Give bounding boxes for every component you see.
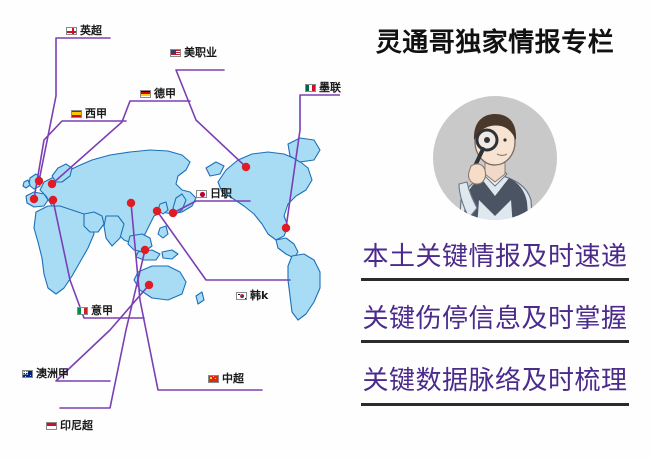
tagline-rule-3 xyxy=(361,403,629,406)
flag-indonesia-icon xyxy=(46,422,57,430)
land-india xyxy=(104,216,124,246)
flag-germany-icon xyxy=(140,90,151,98)
land-philippines xyxy=(158,226,168,238)
tagline-3: 关键数据脉络及时梳理 xyxy=(340,360,650,397)
map-label-laliga[interactable]: 西甲 xyxy=(71,108,107,119)
land-ireland xyxy=(23,180,30,188)
map-label-bundesliga-text: 德甲 xyxy=(154,88,176,99)
flag-japan-icon xyxy=(196,190,207,198)
marker-italy xyxy=(49,196,57,204)
tagline-block-3: 关键数据脉络及时梳理 xyxy=(340,360,650,406)
poster-root: 英超 美职业 德甲 墨联 西甲 日职 韩k 意甲 xyxy=(0,0,650,459)
map-label-liga1[interactable]: 印尼超 xyxy=(46,420,93,431)
land-nz xyxy=(196,292,204,304)
marker-australia xyxy=(145,281,153,289)
map-label-mls[interactable]: 美职业 xyxy=(170,47,217,58)
content-column: 灵通哥独家情报专栏 xyxy=(340,0,650,459)
world-map-svg xyxy=(0,0,340,459)
flag-australia-icon xyxy=(22,370,33,378)
map-label-bundesliga[interactable]: 德甲 xyxy=(140,88,176,99)
map-label-seriea[interactable]: 意甲 xyxy=(77,305,113,316)
map-landmasses xyxy=(23,138,320,320)
map-label-jleague[interactable]: 日职 xyxy=(196,188,232,199)
map-label-liga1-text: 印尼超 xyxy=(60,420,93,431)
map-label-kleague-text: 韩k xyxy=(250,290,268,301)
map-label-jleague-text: 日职 xyxy=(210,188,232,199)
avatar-hand xyxy=(468,164,485,184)
avatar-eye xyxy=(503,138,506,141)
map-label-seriea-text: 意甲 xyxy=(91,305,113,316)
map-label-england[interactable]: 英超 xyxy=(66,25,102,36)
flag-korea-icon xyxy=(236,292,247,300)
map-label-laliga-text: 西甲 xyxy=(85,108,107,119)
marker-china xyxy=(127,199,135,207)
tagline-1: 本土关键情报及时速递 xyxy=(340,236,650,273)
page-title: 灵通哥独家情报专栏 xyxy=(340,22,650,59)
land-south-america xyxy=(288,254,320,320)
marker-spain xyxy=(30,195,38,203)
flag-china-icon xyxy=(208,375,219,383)
map-label-mexico[interactable]: 墨联 xyxy=(305,82,341,93)
tagline-rule-1 xyxy=(361,278,629,281)
marker-england xyxy=(35,177,43,185)
land-australia xyxy=(134,266,186,300)
map-label-aleague[interactable]: 澳洲甲 xyxy=(22,368,69,379)
map-label-mls-text: 美职业 xyxy=(184,47,217,58)
map-label-kleague[interactable]: 韩k xyxy=(236,290,268,301)
tagline-rule-2 xyxy=(361,340,629,343)
world-map-panel: 英超 美职业 德甲 墨联 西甲 日职 韩k 意甲 xyxy=(0,0,340,459)
marker-japan xyxy=(169,209,177,217)
map-label-csl[interactable]: 中超 xyxy=(208,373,244,384)
flag-mexico-icon xyxy=(305,84,316,92)
marker-indonesia xyxy=(141,246,149,254)
connector-mls xyxy=(176,70,246,167)
flag-italy-icon xyxy=(77,307,88,315)
land-north-america xyxy=(218,152,312,240)
marker-germany xyxy=(48,180,56,188)
connector-aleague xyxy=(56,285,149,381)
tagline-block-2: 关键伤停信息及时掌握 xyxy=(340,298,650,343)
land-arabia xyxy=(84,212,104,232)
map-label-mexico-text: 墨联 xyxy=(319,82,341,93)
flag-usa-icon xyxy=(170,49,181,57)
map-label-csl-text: 中超 xyxy=(222,373,244,384)
magnifier-pupil xyxy=(484,137,490,143)
flag-spain-icon xyxy=(71,110,82,118)
land-indonesia-2 xyxy=(162,250,178,259)
marker-usa xyxy=(242,163,250,171)
tagline-2: 关键伤停信息及时掌握 xyxy=(340,298,650,335)
tagline-block-1: 本土关键情报及时速递 xyxy=(340,236,650,281)
map-label-aleague-text: 澳洲甲 xyxy=(36,368,69,379)
marker-korea xyxy=(153,207,161,215)
marker-mexico xyxy=(282,224,290,232)
avatar xyxy=(425,88,565,228)
land-alaska xyxy=(206,162,224,176)
map-label-england-text: 英超 xyxy=(80,25,102,36)
flag-england-icon xyxy=(66,27,77,35)
